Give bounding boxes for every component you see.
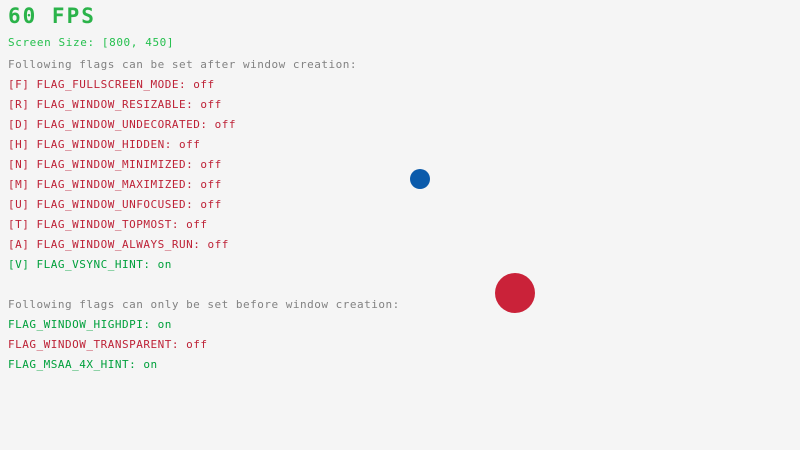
flag-value: on — [158, 318, 172, 331]
flag-value: off — [200, 158, 221, 171]
flag-list-after-creation: [F] FLAG_FULLSCREEN_MODE: off[R] FLAG_WI… — [8, 79, 428, 279]
flag-name: FLAG_WINDOW_UNDECORATED: — [37, 118, 208, 131]
section-heading-after-creation: Following flags can be set after window … — [8, 59, 357, 70]
red-ball — [495, 273, 535, 313]
flag-value: off — [200, 98, 221, 111]
flag-name: FLAG_WINDOW_MINIMIZED: — [37, 158, 194, 171]
fps-counter: 60 FPS — [8, 6, 96, 27]
flag-value: off — [215, 118, 236, 131]
flag-shortcut-key: [U] — [8, 198, 29, 211]
flag-name: FLAG_FULLSCREEN_MODE: — [37, 78, 187, 91]
flag-shortcut-key: [H] — [8, 138, 29, 151]
flag-shortcut-key: [R] — [8, 98, 29, 111]
flag-shortcut-key: [N] — [8, 158, 29, 171]
flag-row[interactable]: [M] FLAG_WINDOW_MAXIMIZED: off — [8, 179, 428, 199]
flag-name: FLAG_WINDOW_TOPMOST: — [37, 218, 179, 231]
flag-row[interactable]: [A] FLAG_WINDOW_ALWAYS_RUN: off — [8, 239, 428, 259]
flag-row[interactable]: [V] FLAG_VSYNC_HINT: on — [8, 259, 428, 279]
flag-name: FLAG_WINDOW_HIDDEN: — [37, 138, 172, 151]
flag-shortcut-key: [D] — [8, 118, 29, 131]
flag-row: FLAG_WINDOW_HIGHDPI: on — [8, 319, 428, 339]
flag-row[interactable]: [N] FLAG_WINDOW_MINIMIZED: off — [8, 159, 428, 179]
flag-name: FLAG_WINDOW_UNFOCUSED: — [37, 198, 194, 211]
flag-value: off — [193, 78, 214, 91]
flag-row[interactable]: [T] FLAG_WINDOW_TOPMOST: off — [8, 219, 428, 239]
game-window[interactable]: 60 FPS Screen Size: [800, 450] Following… — [0, 0, 800, 450]
flag-value: off — [179, 138, 200, 151]
flag-value: off — [207, 238, 228, 251]
flag-value: off — [186, 338, 207, 351]
flag-value: on — [158, 258, 172, 271]
flag-row: FLAG_MSAA_4X_HINT: on — [8, 359, 428, 379]
blue-ball — [410, 169, 430, 189]
flag-shortcut-key: [F] — [8, 78, 29, 91]
flag-value: off — [200, 178, 221, 191]
section-heading-before-creation: Following flags can only be set before w… — [8, 299, 400, 310]
flag-name: FLAG_WINDOW_RESIZABLE: — [37, 98, 194, 111]
flag-row: FLAG_WINDOW_TRANSPARENT: off — [8, 339, 428, 359]
flag-row[interactable]: [D] FLAG_WINDOW_UNDECORATED: off — [8, 119, 428, 139]
flag-list-before-creation: FLAG_WINDOW_HIGHDPI: onFLAG_WINDOW_TRANS… — [8, 319, 428, 379]
flag-value: off — [186, 218, 207, 231]
flag-value: off — [200, 198, 221, 211]
flag-name: FLAG_MSAA_4X_HINT: — [8, 358, 136, 371]
flag-row[interactable]: [H] FLAG_WINDOW_HIDDEN: off — [8, 139, 428, 159]
flag-shortcut-key: [T] — [8, 218, 29, 231]
flag-row[interactable]: [U] FLAG_WINDOW_UNFOCUSED: off — [8, 199, 428, 219]
flag-name: FLAG_WINDOW_HIGHDPI: — [8, 318, 150, 331]
flag-row[interactable]: [R] FLAG_WINDOW_RESIZABLE: off — [8, 99, 428, 119]
flag-name: FLAG_VSYNC_HINT: — [37, 258, 151, 271]
flag-name: FLAG_WINDOW_ALWAYS_RUN: — [37, 238, 201, 251]
hud-overlay: 60 FPS Screen Size: [800, 450] Following… — [0, 0, 800, 450]
flag-row[interactable]: [F] FLAG_FULLSCREEN_MODE: off — [8, 79, 428, 99]
flag-name: FLAG_WINDOW_TRANSPARENT: — [8, 338, 179, 351]
flag-shortcut-key: [M] — [8, 178, 29, 191]
flag-shortcut-key: [A] — [8, 238, 29, 251]
screen-size-label: Screen Size: [800, 450] — [8, 37, 174, 48]
flag-value: on — [143, 358, 157, 371]
flag-name: FLAG_WINDOW_MAXIMIZED: — [37, 178, 194, 191]
flag-shortcut-key: [V] — [8, 258, 29, 271]
